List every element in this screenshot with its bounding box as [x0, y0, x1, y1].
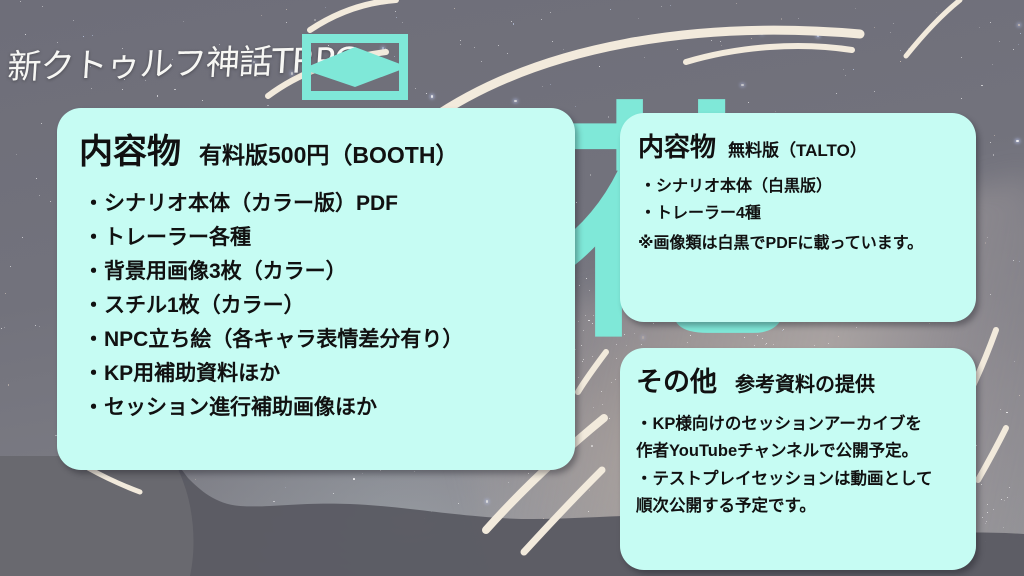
- card-other-subheading: 参考資料の提供: [735, 368, 875, 397]
- card-free-contents: 内容物 無料版（TALTO） ・シナリオ本体（白黒版） ・トレーラー4種 ※画像…: [620, 113, 976, 322]
- list-item: ・KP用補助資料ほか: [79, 357, 553, 391]
- list-item: ・セッション進行補助画像ほか: [79, 391, 553, 425]
- list-item: ・トレーラー4種: [638, 201, 958, 228]
- card-free-item-list: ・シナリオ本体（白黒版） ・トレーラー4種: [638, 174, 958, 228]
- lens-diamond-icon: [302, 45, 408, 89]
- card-other-heading: その他: [636, 360, 717, 399]
- card-paid-item-list: ・シナリオ本体（カラー版）PDF ・トレーラー各種 ・背景用画像3枚（カラー） …: [79, 187, 553, 425]
- card-other-info: その他 参考資料の提供 ・KP様向けのセッションアーカイブを 作者YouTube…: [620, 348, 976, 570]
- card-free-heading: 内容物: [638, 127, 716, 164]
- body-line: 作者YouTubeチャンネルで公開予定。: [636, 438, 960, 465]
- card-free-subheading: 無料版（TALTO）: [728, 136, 867, 161]
- brand-logo: [302, 34, 408, 100]
- list-item: ・トレーラー各種: [79, 221, 553, 255]
- list-item: ・シナリオ本体（カラー版）PDF: [79, 187, 553, 221]
- card-paid-heading: 内容物: [79, 124, 181, 173]
- list-item: ・スチル1枚（カラー）: [79, 289, 553, 323]
- body-line: ・テストプレイセッションは動画として: [636, 466, 960, 493]
- body-line: ・KP様向けのセッションアーカイブを: [636, 411, 960, 438]
- list-item: ・NPC立ち絵（各キャラ表情差分有り）: [79, 323, 553, 357]
- card-other-body: ・KP様向けのセッションアーカイブを 作者YouTubeチャンネルで公開予定。 …: [636, 411, 960, 521]
- list-item: ・シナリオ本体（白黒版）: [638, 174, 958, 201]
- slide-canvas: 花 新クトゥルフ神話TRPG 内容物 有料版500円（BOOTH） ・シナリオ本…: [0, 0, 1024, 576]
- card-other-header: その他 参考資料の提供: [636, 360, 960, 399]
- card-free-header: 内容物 無料版（TALTO）: [638, 127, 958, 164]
- body-line: 順次公開する予定です。: [636, 493, 960, 520]
- card-paid-contents: 内容物 有料版500円（BOOTH） ・シナリオ本体（カラー版）PDF ・トレー…: [57, 108, 575, 470]
- card-free-note: ※画像類は白黒でPDFに載っています。: [638, 230, 958, 257]
- card-paid-header: 内容物 有料版500円（BOOTH）: [79, 124, 553, 173]
- card-paid-subheading: 有料版500円（BOOTH）: [199, 136, 458, 170]
- list-item: ・背景用画像3枚（カラー）: [79, 255, 553, 289]
